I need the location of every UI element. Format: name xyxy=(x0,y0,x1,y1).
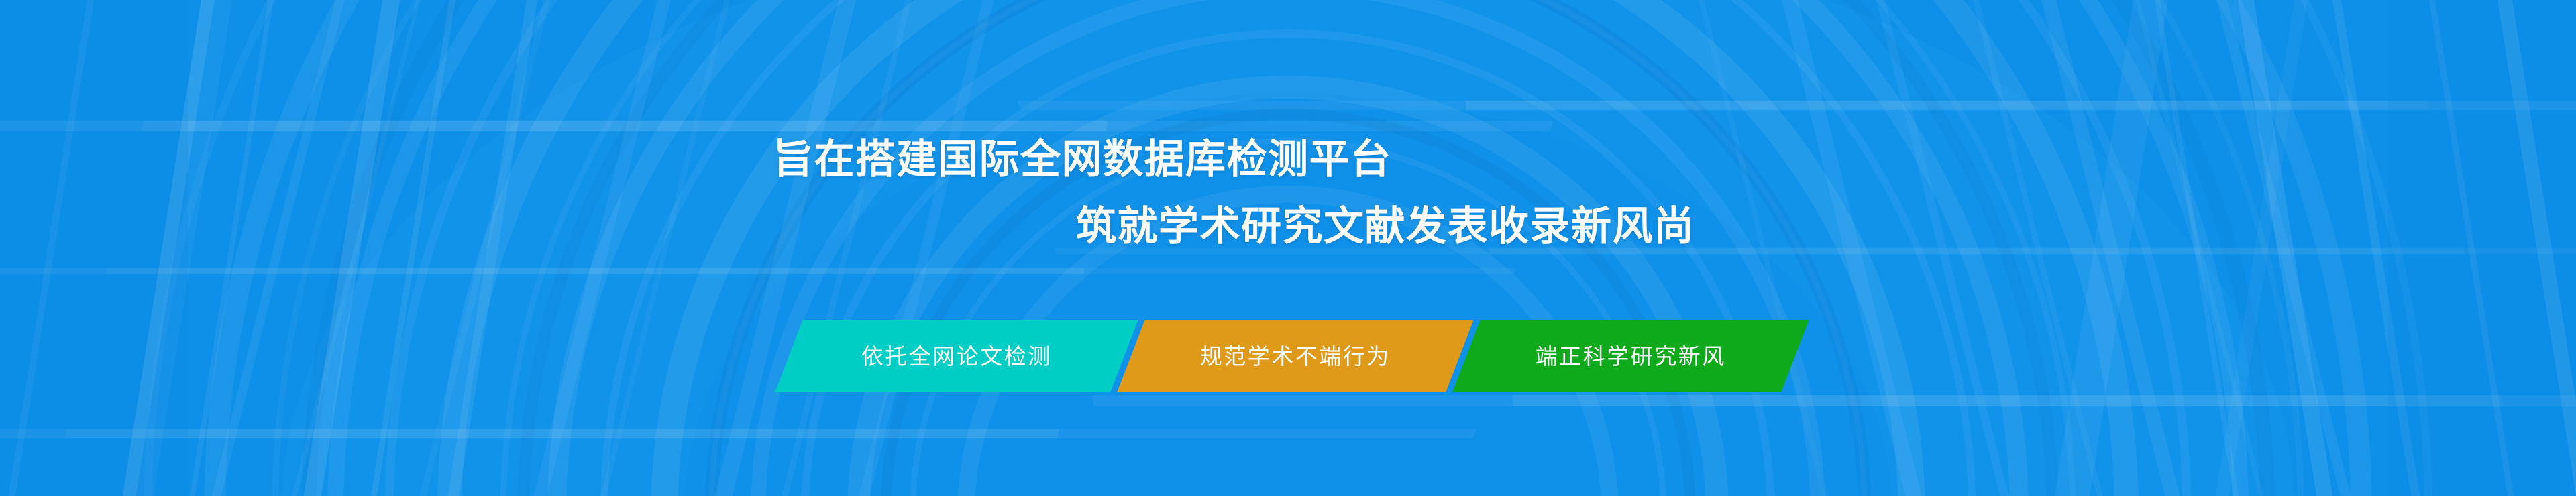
headline-block: 旨在搭建国际全网数据库检测平台 筑就学术研究文献发表收录新风尚 xyxy=(0,0,2576,308)
feature-tag-1[interactable]: 规范学术不端行为 xyxy=(1117,320,1473,392)
feature-tag-2[interactable]: 端正科学研究新风 xyxy=(1452,320,1809,392)
feature-tag-1-label: 规范学术不端行为 xyxy=(1200,345,1391,367)
feature-tag-0-label: 依托全网论文检测 xyxy=(861,345,1052,367)
feature-tag-2-label: 端正科学研究新风 xyxy=(1536,345,1726,367)
feature-tag-strip: 依托全网论文检测 规范学术不端行为 端正科学研究新风 xyxy=(775,320,1808,392)
headline-line-1: 旨在搭建国际全网数据库检测平台 xyxy=(773,139,1392,180)
feature-tag-0[interactable]: 依托全网论文检测 xyxy=(775,320,1138,392)
hero-banner: 旨在搭建国际全网数据库检测平台 筑就学术研究文献发表收录新风尚 依托全网论文检测… xyxy=(0,0,2576,496)
headline-line-2: 筑就学术研究文献发表收录新风尚 xyxy=(1076,206,1695,247)
